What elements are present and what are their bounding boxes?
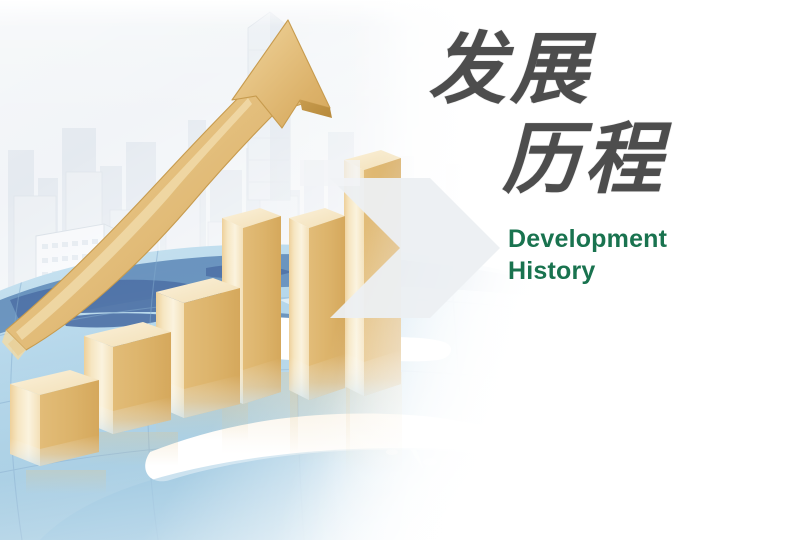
development-history-banner: 发展 历程 Development History [0,0,800,540]
title-english-line-1: Development [508,225,667,254]
title-chinese-line-2: 历程 [502,114,666,206]
title-chinese-line-1: 发展 [428,24,592,116]
title-block: 发展 历程 Development History [424,18,724,288]
title-english-line-2: History [508,257,596,286]
